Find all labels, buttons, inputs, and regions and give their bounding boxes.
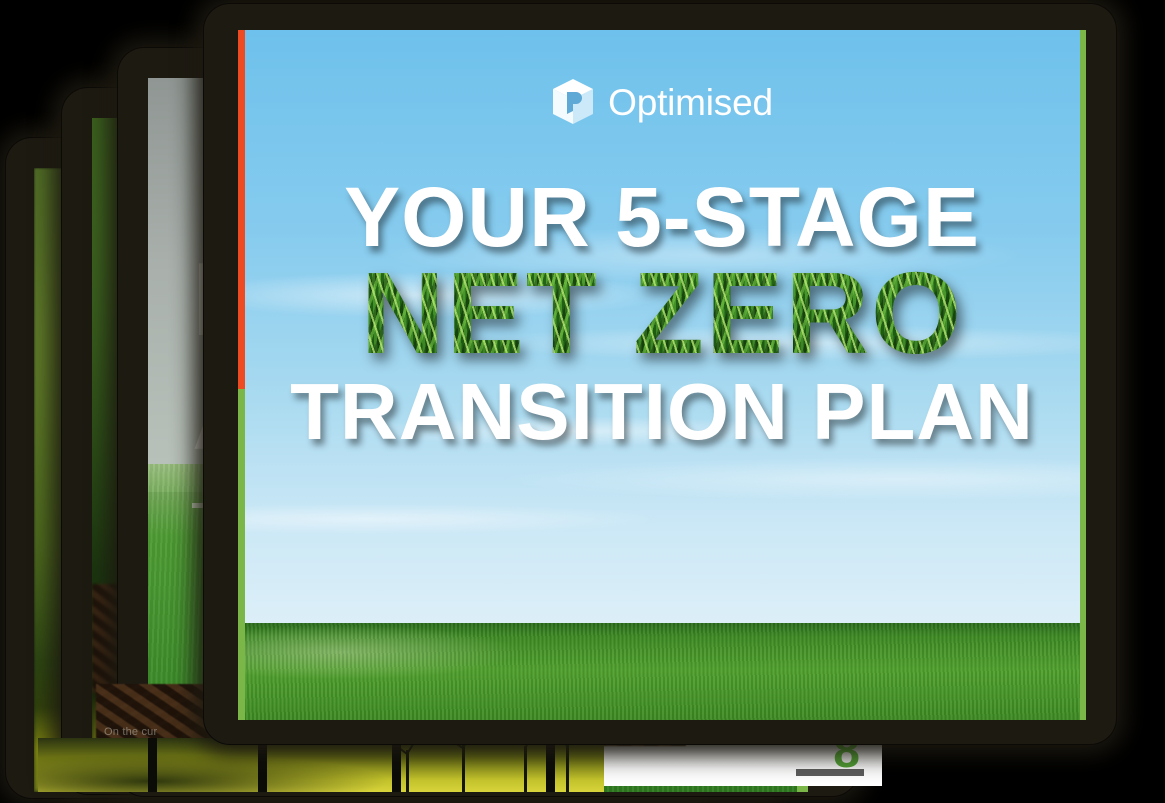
band-divider <box>392 738 401 792</box>
band-divider <box>148 738 157 792</box>
main-cover-card[interactable]: Optimised YOUR 5-STAGE NET ZERO TRANSITI… <box>238 30 1086 720</box>
wind-turbine-band <box>38 738 604 792</box>
cover-stack-scene: D 8 D M N A <box>0 0 1165 803</box>
turbine-mast-icon <box>524 746 527 792</box>
cover-title-block: YOUR 5-STAGE NET ZERO TRANSITION PLAN <box>238 178 1086 449</box>
brand-wordmark: Optimised <box>608 84 773 121</box>
turbine-mast-icon <box>566 742 569 792</box>
cover-title-line3: TRANSITION PLAN <box>252 374 1072 449</box>
cube-logo-icon <box>551 78 595 126</box>
brand-logo[interactable]: Optimised <box>238 78 1086 126</box>
turbine-mast-icon <box>462 744 465 792</box>
sunset-haze <box>38 738 604 792</box>
turbine-mast-icon <box>406 750 409 792</box>
deep-card-caption: On the cur <box>104 726 314 738</box>
cover-title-line2: NET ZERO <box>252 259 1072 368</box>
cover-title-line1: YOUR 5-STAGE <box>252 178 1072 257</box>
grass-foreground <box>238 623 1086 720</box>
page-number-rule <box>796 769 864 776</box>
band-divider <box>546 738 555 792</box>
band-divider <box>258 738 267 792</box>
